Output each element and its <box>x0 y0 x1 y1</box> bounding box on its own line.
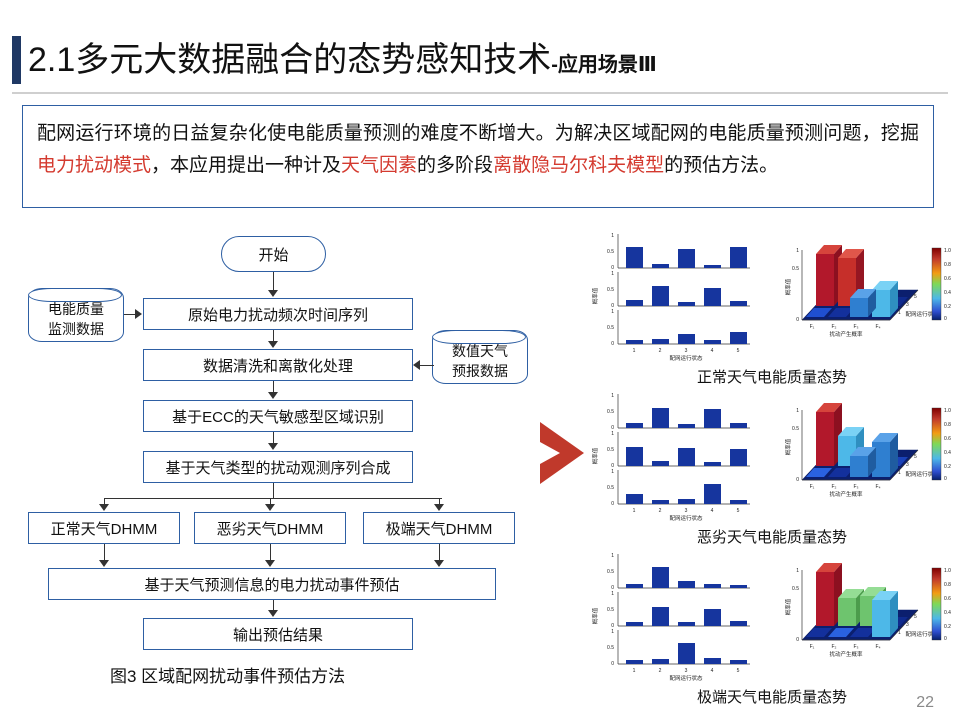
svg-text:5: 5 <box>737 668 740 674</box>
abstract-seg-2: ，本应用提出一种计及 <box>151 155 341 176</box>
process-arrow-icon <box>534 418 594 488</box>
flow-node-7: 输出预估结果 <box>143 618 413 650</box>
svg-text:0: 0 <box>796 637 799 643</box>
svg-text:3: 3 <box>685 668 688 674</box>
svg-text:F₃: F₃ <box>853 484 858 490</box>
svg-text:F₄: F₄ <box>875 644 880 650</box>
abstract-text: 配网运行环境的日益复杂化使电能质量预测的难度不断增大。为解决区域配网的电能质量预… <box>23 106 933 182</box>
flow-arrow-bus-right <box>434 504 444 511</box>
svg-text:1: 1 <box>898 470 901 476</box>
svg-text:0.5: 0.5 <box>792 266 799 272</box>
svg-text:0: 0 <box>611 501 614 507</box>
abstract-seg-3: 的多阶段 <box>417 155 493 176</box>
svg-text:1: 1 <box>611 271 614 277</box>
svg-text:0.5: 0.5 <box>792 426 799 432</box>
svg-text:概率值: 概率值 <box>784 278 792 295</box>
flow-datastore-weather: 数值天气 预报数据 <box>432 330 528 384</box>
svg-text:扰动产生概率: 扰动产生概率 <box>829 650 863 658</box>
flow-arrow-db-right-n2 <box>413 360 420 370</box>
flow-arrow-right-n6 <box>434 560 444 567</box>
abstract-seg-1: 配网运行环境的日益复杂化使电能质量预测的难度不断增大。为解决区域配网的电能质量预… <box>37 123 919 144</box>
chart-caption-extreme: 极端天气电能质量态势 <box>586 686 958 707</box>
abstract-highlight-1: 电力扰动模式 <box>37 155 151 176</box>
flow-link-branch-bus <box>104 498 442 499</box>
svg-text:0.6: 0.6 <box>944 436 951 442</box>
svg-text:0: 0 <box>611 661 614 667</box>
svg-text:F₁: F₁ <box>810 484 815 490</box>
svg-text:3: 3 <box>906 462 909 468</box>
svg-text:5: 5 <box>914 294 917 300</box>
svg-text:配网运行状态: 配网运行状态 <box>669 514 703 522</box>
svg-text:F₃: F₃ <box>853 644 858 650</box>
svg-text:1: 1 <box>796 408 799 414</box>
svg-text:概率值: 概率值 <box>784 438 792 455</box>
datastore-right-line1: 数值天气 <box>452 341 508 361</box>
svg-text:1: 1 <box>633 348 636 354</box>
svg-text:0.2: 0.2 <box>944 304 951 310</box>
svg-text:0.4: 0.4 <box>944 290 951 296</box>
flow-link-right-n6 <box>439 544 440 561</box>
flow-node-6: 基于天气预测信息的电力扰动事件预估 <box>48 568 496 600</box>
flow-arrow-n6-n7 <box>268 610 278 617</box>
svg-text:配网运行状态: 配网运行状态 <box>669 674 703 682</box>
svg-text:0.2: 0.2 <box>944 464 951 470</box>
svg-text:3: 3 <box>906 622 909 628</box>
svg-text:4: 4 <box>711 508 714 514</box>
flow-arrow-start-n1 <box>268 290 278 297</box>
flow-node-start: 开始 <box>221 236 326 272</box>
svg-text:0.5: 0.5 <box>607 569 614 575</box>
flow-node-4: 基于天气类型的扰动观测序列合成 <box>143 451 413 483</box>
flowchart: 开始 电能质量 监测数据 数值天气 预报数据 原始电力扰动频次时间序列 数据清洗… <box>8 218 554 688</box>
svg-text:0.5: 0.5 <box>607 409 614 415</box>
svg-text:0.4: 0.4 <box>944 610 951 616</box>
flow-node-dhmm-bad: 恶劣天气DHMM <box>194 512 346 544</box>
svg-text:1.0: 1.0 <box>944 408 951 414</box>
flow-datastore-power-quality: 电能质量 监测数据 <box>28 288 124 342</box>
svg-text:1: 1 <box>611 431 614 437</box>
svg-text:3: 3 <box>906 302 909 308</box>
svg-text:0: 0 <box>944 316 947 322</box>
datastore-right-line2: 预报数据 <box>452 361 508 381</box>
svg-text:0.5: 0.5 <box>607 249 614 255</box>
svg-text:1.0: 1.0 <box>944 568 951 574</box>
title-accent-bar <box>12 36 21 84</box>
svg-text:F₄: F₄ <box>875 324 880 330</box>
svg-text:扰动产生概率: 扰动产生概率 <box>829 490 863 498</box>
svg-text:0.6: 0.6 <box>944 596 951 602</box>
svg-text:0.8: 0.8 <box>944 422 951 428</box>
svg-text:概率值: 概率值 <box>591 287 599 304</box>
svg-text:1: 1 <box>611 233 614 239</box>
svg-text:0.4: 0.4 <box>944 450 951 456</box>
chart-bad-svg: 1 0.5 0 1 0.5 0 <box>586 388 958 526</box>
svg-text:0: 0 <box>796 317 799 323</box>
svg-text:2: 2 <box>659 348 662 354</box>
flow-link-db-right-n2 <box>420 365 434 366</box>
chart-caption-bad: 恶劣天气电能质量态势 <box>586 526 958 547</box>
svg-text:1: 1 <box>611 309 614 315</box>
flow-arrow-n2-n3 <box>268 392 278 399</box>
flow-arrow-n1-n2 <box>268 341 278 348</box>
svg-text:2: 2 <box>659 668 662 674</box>
svg-text:概率值: 概率值 <box>591 607 599 624</box>
svg-text:3: 3 <box>685 508 688 514</box>
svg-text:1: 1 <box>611 469 614 475</box>
flow-arrow-left-n6 <box>99 560 109 567</box>
svg-text:F₁: F₁ <box>810 324 815 330</box>
svg-text:0.5: 0.5 <box>607 325 614 331</box>
svg-text:0.5: 0.5 <box>607 607 614 613</box>
page-title-main: 2.1多元大数据融合的态势感知技术 <box>28 41 551 79</box>
flow-link-mid-n6 <box>270 544 271 561</box>
chart-extreme-svg: 1 0.5 0 1 0.5 0 <box>586 548 958 686</box>
page-title-sub: -应用场景Ⅲ <box>551 54 657 76</box>
svg-text:1: 1 <box>898 630 901 636</box>
svg-text:F₃: F₃ <box>853 324 858 330</box>
svg-text:1: 1 <box>633 508 636 514</box>
chart-block-normal: 1 0.5 0 1 0.5 0 <box>586 228 958 388</box>
flow-node-dhmm-normal: 正常天气DHMM <box>28 512 180 544</box>
svg-text:5: 5 <box>914 614 917 620</box>
chart-normal-svg: 1 0.5 0 1 0.5 0 <box>586 228 958 366</box>
svg-text:F₄: F₄ <box>875 484 880 490</box>
flow-arrow-bus-left <box>99 504 109 511</box>
flow-node-2: 数据清洗和离散化处理 <box>143 349 413 381</box>
flow-link-start-n1 <box>273 272 274 291</box>
svg-text:F₂: F₂ <box>832 644 837 650</box>
abstract-seg-4: 的预估方法。 <box>664 155 778 176</box>
svg-text:1: 1 <box>633 668 636 674</box>
svg-text:0: 0 <box>796 477 799 483</box>
svg-text:概率值: 概率值 <box>784 598 792 615</box>
svg-text:1: 1 <box>611 553 614 559</box>
svg-text:F₂: F₂ <box>832 324 837 330</box>
page-number: 22 <box>916 694 934 712</box>
flow-link-n4-bus <box>273 483 274 498</box>
svg-text:5: 5 <box>914 454 917 460</box>
flow-arrow-mid-n6 <box>265 560 275 567</box>
abstract-highlight-3: 离散隐马尔科夫模型 <box>493 155 664 176</box>
title-divider <box>12 92 948 94</box>
svg-text:0.5: 0.5 <box>607 447 614 453</box>
datastore-left-line2: 监测数据 <box>48 319 104 339</box>
flow-arrow-bus-mid <box>265 504 275 511</box>
flow-node-1: 原始电力扰动频次时间序列 <box>143 298 413 330</box>
svg-text:1: 1 <box>611 591 614 597</box>
svg-text:0: 0 <box>611 341 614 347</box>
svg-text:0.5: 0.5 <box>607 485 614 491</box>
svg-text:配网运行状态: 配网运行状态 <box>669 354 703 362</box>
svg-text:5: 5 <box>737 348 740 354</box>
svg-text:5: 5 <box>737 508 740 514</box>
svg-text:0: 0 <box>944 476 947 482</box>
svg-text:0.6: 0.6 <box>944 276 951 282</box>
chart-caption-normal: 正常天气电能质量态势 <box>586 366 958 387</box>
svg-text:0.5: 0.5 <box>607 645 614 651</box>
svg-text:4: 4 <box>711 348 714 354</box>
svg-text:1: 1 <box>611 393 614 399</box>
svg-text:0.8: 0.8 <box>944 582 951 588</box>
svg-text:1: 1 <box>796 248 799 254</box>
chart-block-bad: 1 0.5 0 1 0.5 0 <box>586 388 958 548</box>
svg-text:3: 3 <box>685 348 688 354</box>
svg-text:0.8: 0.8 <box>944 262 951 268</box>
abstract-box: 配网运行环境的日益复杂化使电能质量预测的难度不断增大。为解决区域配网的电能质量预… <box>22 105 934 208</box>
figure-caption: 图3 区域配网扰动事件预估方法 <box>110 662 345 687</box>
svg-text:1.0: 1.0 <box>944 248 951 254</box>
svg-text:0.2: 0.2 <box>944 624 951 630</box>
svg-text:0.5: 0.5 <box>607 287 614 293</box>
datastore-left-line1: 电能质量 <box>48 299 104 319</box>
flow-node-3: 基于ECC的天气敏感型区域识别 <box>143 400 413 432</box>
chart-block-extreme: 1 0.5 0 1 0.5 0 <box>586 548 958 708</box>
flow-node-dhmm-extreme: 极端天气DHMM <box>363 512 515 544</box>
svg-text:2: 2 <box>659 508 662 514</box>
svg-text:1: 1 <box>796 568 799 574</box>
svg-text:1: 1 <box>611 629 614 635</box>
svg-text:扰动产生概率: 扰动产生概率 <box>829 330 863 338</box>
svg-text:F₁: F₁ <box>810 644 815 650</box>
flow-arrow-n3-n4 <box>268 443 278 450</box>
svg-text:F₂: F₂ <box>832 484 837 490</box>
svg-text:0.5: 0.5 <box>792 586 799 592</box>
page-title: 2.1多元大数据融合的态势感知技术-应用场景Ⅲ <box>28 36 657 89</box>
flow-link-left-n6 <box>104 544 105 561</box>
svg-text:0: 0 <box>944 636 947 642</box>
abstract-highlight-2: 天气因素 <box>341 155 417 176</box>
svg-text:1: 1 <box>898 310 901 316</box>
svg-text:4: 4 <box>711 668 714 674</box>
svg-text:概率值: 概率值 <box>591 447 599 464</box>
flow-arrow-db-left-n1 <box>135 309 142 319</box>
